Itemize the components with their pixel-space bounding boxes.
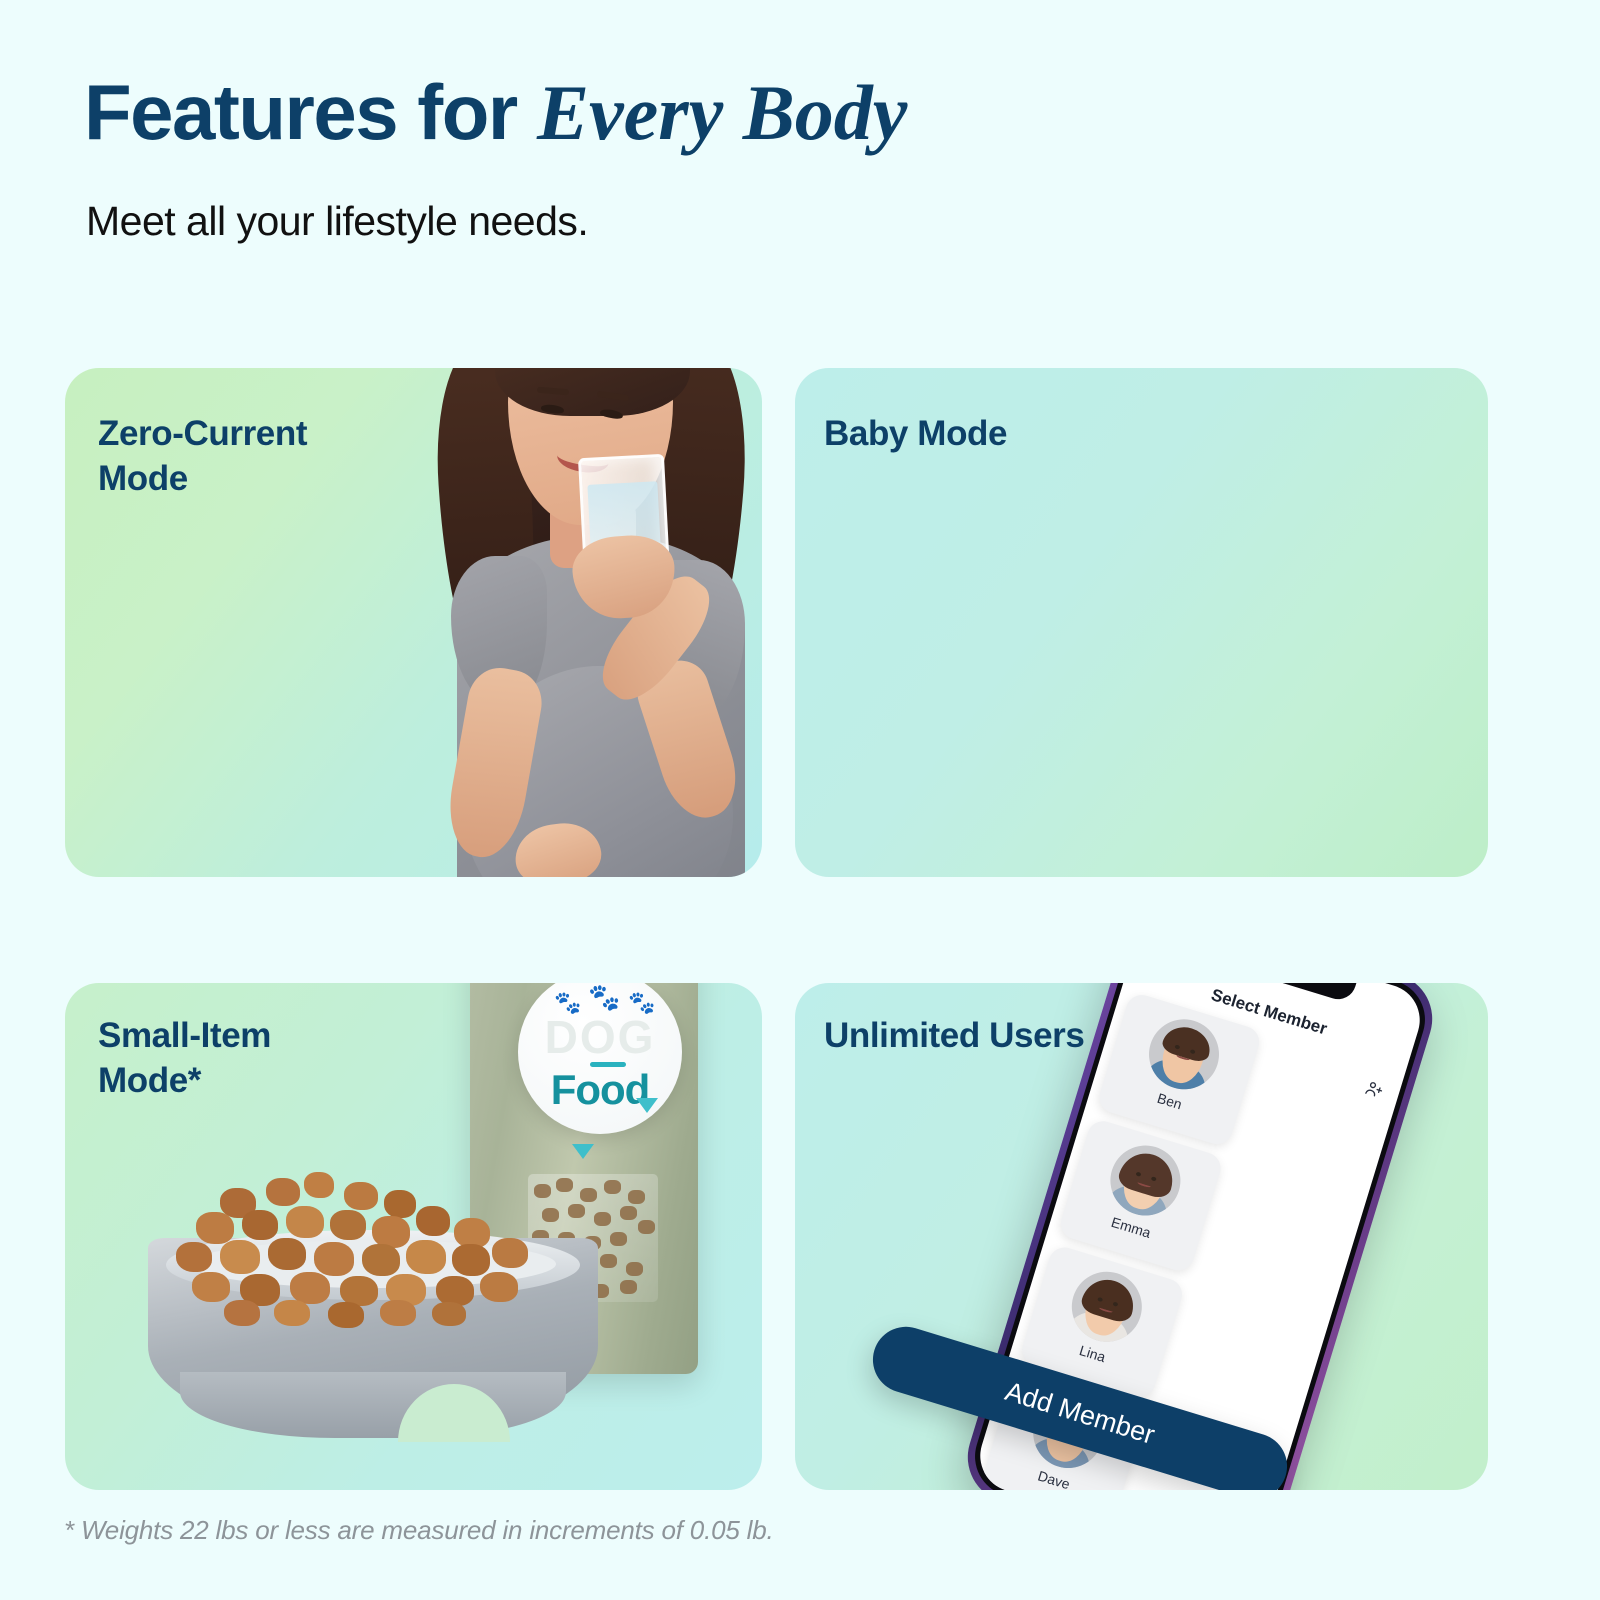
card-artwork-clip — [795, 368, 1488, 877]
member-name: Lina — [1078, 1342, 1108, 1365]
page-title: Features for Every Body — [84, 73, 907, 152]
member-card-ben[interactable]: Ben — [1096, 991, 1264, 1148]
page-title-emphasis: Every Body — [537, 69, 907, 156]
member-name: Emma — [1109, 1214, 1152, 1241]
paw-print-icon-2: 🐾 — [588, 984, 620, 1010]
page-title-plain: Features for — [84, 68, 537, 156]
feature-card-baby-mode[interactable] — [795, 368, 1488, 877]
feature-card-zero-current-mode[interactable] — [65, 368, 762, 877]
card-artwork-clip: ❮ Select Member — [795, 983, 1488, 1490]
avatar-ben — [1140, 1011, 1227, 1098]
member-name: Ben — [1155, 1090, 1184, 1113]
dog-food-brand-ghost: DOG — [518, 1010, 682, 1064]
member-card-emma[interactable]: Emma — [1057, 1117, 1225, 1274]
member-name: Dave — [1036, 1467, 1072, 1490]
dog-bowl — [148, 1172, 598, 1442]
bag-triangle-marker — [572, 1144, 594, 1159]
dog-food-label: 🐾 🐾 🐾 DOG Food — [518, 983, 682, 1134]
phone-mockup: ❮ Select Member — [990, 983, 1488, 1490]
feature-grid-page: Features for Every Body Meet all your li… — [0, 0, 1600, 1600]
feature-card-small-item-mode[interactable]: 🐾 🐾 🐾 DOG Food — [65, 983, 762, 1490]
card-artwork-clip — [65, 368, 762, 877]
avatar-emma — [1102, 1137, 1189, 1224]
pregnant-woman-illustration — [345, 368, 762, 877]
card-artwork-clip: 🐾 🐾 🐾 DOG Food — [65, 983, 762, 1490]
avatar-lina — [1063, 1263, 1150, 1350]
feature-card-unlimited-users[interactable]: ❮ Select Member — [795, 983, 1488, 1490]
page-subtitle: Meet all your lifestyle needs. — [86, 197, 588, 246]
footnote-text: * Weights 22 lbs or less are measured in… — [64, 1515, 774, 1546]
dog-food-illustration: 🐾 🐾 🐾 DOG Food — [140, 983, 762, 1490]
